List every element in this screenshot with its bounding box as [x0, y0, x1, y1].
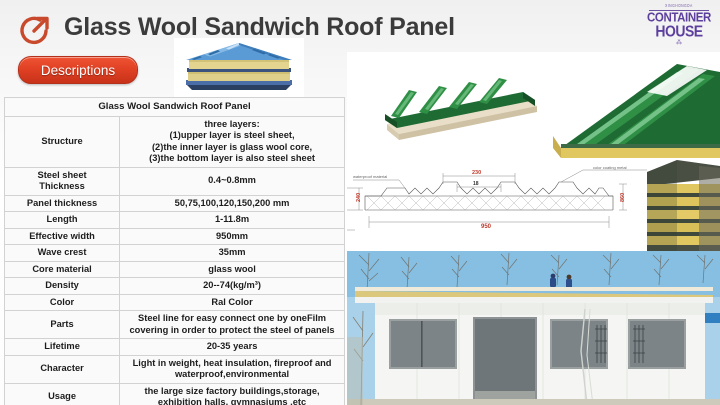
- table-row: Panel thickness 50,75,100,120,150,200 mm: [5, 195, 345, 212]
- table-row: Length 1-11.8m: [5, 212, 345, 229]
- circle-arrow-out-icon: [14, 10, 54, 50]
- drawing-label-waterproof: waterproof material: [353, 174, 387, 179]
- row-key: Panel thickness: [5, 195, 120, 212]
- drawing-dim-height-right: 860: [620, 193, 626, 202]
- spec-table: Glass Wool Sandwich Roof Panel Structure…: [4, 97, 345, 405]
- table-row: Lifetime 20-35 years: [5, 339, 345, 356]
- row-key: Steel sheetThickness: [5, 167, 120, 195]
- row-key: Density: [5, 278, 120, 295]
- logo-ornament-icon: ⁂: [676, 40, 682, 47]
- row-key: Parts: [5, 311, 120, 339]
- logo-tagline: XINGHONGDA: [665, 3, 693, 10]
- row-value: Ral Color: [120, 294, 345, 311]
- table-row: Density 20--74(kg/m³): [5, 278, 345, 295]
- row-value: 35mm: [120, 245, 345, 262]
- panel-corner-photo: [647, 158, 720, 251]
- drawing-strip: waterproof material color coating metal …: [347, 158, 720, 251]
- slide-canvas: Glass Wool Sandwich Roof Panel Descripti…: [0, 0, 720, 405]
- row-value: Steel line for easy connect one by oneFi…: [120, 311, 345, 339]
- row-key: Usage: [5, 383, 120, 405]
- row-value: glass wool: [120, 261, 345, 278]
- row-value: 1-11.8m: [120, 212, 345, 229]
- row-key: Lifetime: [5, 339, 120, 356]
- table-row: Wave crest 35mm: [5, 245, 345, 262]
- table-row: Steel sheetThickness 0.4~0.8mm: [5, 167, 345, 195]
- row-value: 20--74(kg/m³): [120, 278, 345, 295]
- top-product-photos: [347, 52, 720, 158]
- drawing-dim-rib: 18: [473, 181, 479, 187]
- row-value: 20-35 years: [120, 339, 345, 356]
- row-key: Color: [5, 294, 120, 311]
- table-row: Character Light in weight, heat insulati…: [5, 355, 345, 383]
- row-key: Length: [5, 212, 120, 229]
- row-key: Wave crest: [5, 245, 120, 262]
- brand-logo: XINGHONGDA CONTAINER HOUSE ⁂: [646, 4, 712, 48]
- stacked-panels: [553, 52, 720, 158]
- drawing-dim-width: 950: [481, 224, 492, 230]
- table-row: Usage the large size factory buildings,s…: [5, 383, 345, 405]
- drawing-dim-pitch: 230: [472, 170, 481, 176]
- row-value: 50,75,100,120,150,200 mm: [120, 195, 345, 212]
- drawing-label-coating: color coating metal: [593, 165, 627, 170]
- table-row: Parts Steel line for easy connect one by…: [5, 311, 345, 339]
- table-row: Color Ral Color: [5, 294, 345, 311]
- row-value: 950mm: [120, 228, 345, 245]
- row-key: Effective width: [5, 228, 120, 245]
- table-row: Effective width 950mm: [5, 228, 345, 245]
- table-row: Core material glass wool: [5, 261, 345, 278]
- header-panel-photo: [174, 38, 304, 100]
- row-key: Character: [5, 355, 120, 383]
- row-value: Light in weight, heat insulation, firepr…: [120, 355, 345, 383]
- row-value: 0.4~0.8mm: [120, 167, 345, 195]
- table-row: Structure three layers:(1)upper layer is…: [5, 116, 345, 167]
- drawing-dim-height-left: 240: [356, 193, 362, 202]
- row-value: three layers:(1)upper layer is steel she…: [120, 116, 345, 167]
- table-caption-row: Glass Wool Sandwich Roof Panel: [5, 98, 345, 117]
- logo-line-2: HOUSE: [655, 23, 702, 40]
- row-key: Core material: [5, 261, 120, 278]
- descriptions-button-label: Descriptions: [41, 63, 115, 78]
- table-caption-cell: Glass Wool Sandwich Roof Panel: [5, 98, 345, 117]
- spec-table-body: Glass Wool Sandwich Roof Panel Structure…: [5, 98, 345, 405]
- descriptions-button[interactable]: Descriptions: [18, 56, 138, 84]
- row-key: Structure: [5, 116, 120, 167]
- building-photo: [347, 251, 720, 405]
- row-value: the large size factory buildings,storage…: [120, 383, 345, 405]
